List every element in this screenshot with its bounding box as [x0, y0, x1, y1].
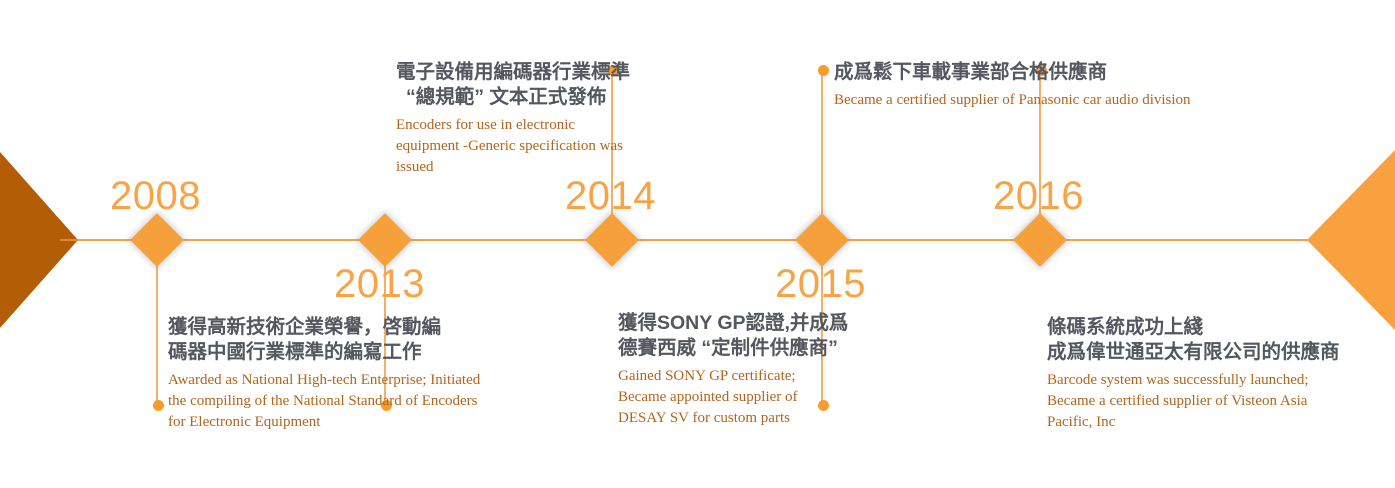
milestone-2008-connector-line	[156, 258, 158, 406]
panasonic-block-connector-line	[821, 70, 823, 222]
milestone-2016-en-line: Became a certified supplier of Visteon A…	[1047, 391, 1340, 412]
milestone-2016-cn-line: 成爲偉世通亞太有限公司的供應商	[1047, 340, 1340, 365]
milestone-2016-cn-line: 條碼系統成功上綫	[1047, 315, 1340, 340]
milestone-2015-en-line: DESAY SV for custom parts	[618, 408, 848, 429]
milestone-2014-en-line: issued	[396, 157, 630, 178]
milestone-2008-connector-dot-icon	[153, 400, 164, 411]
milestone-2015-en-description: Gained SONY GP certificate;Became appoin…	[618, 361, 848, 429]
milestone-2015-en-line: Gained SONY GP certificate;	[618, 366, 848, 387]
diamond-marker-icon	[1013, 213, 1067, 267]
timeline-axis	[60, 239, 1340, 241]
milestone-2014-en-description: Encoders for use in electronicequipment …	[396, 110, 630, 178]
timeline-infographic: 20082013獲得高新技術企業榮譽，啓動編碼器中國行業標準的編寫工作Award…	[0, 0, 1395, 488]
milestone-2013-en-line: for Electronic Equipment	[168, 412, 480, 433]
year-label-2015: 2015	[775, 264, 866, 304]
milestone-2015-text-block: 獲得SONY GP認證,并成爲德賽西威 “定制件供應商”Gained SONY …	[618, 311, 848, 429]
panasonic-block-en-description: Became a certified supplier of Panasonic…	[834, 85, 1191, 111]
milestone-2015-cn-line: 獲得SONY GP認證,并成爲	[618, 311, 848, 336]
year-label-2016: 2016	[993, 176, 1084, 216]
milestone-2013-cn-line: 碼器中國行業標準的編寫工作	[168, 340, 480, 365]
diamond-marker-icon	[585, 213, 639, 267]
panasonic-block-connector-dot-icon	[818, 65, 829, 76]
milestone-2014-cn-line: 電子設備用編碼器行業標準	[396, 60, 630, 85]
milestone-2016-en-line: Pacific, Inc	[1047, 412, 1340, 433]
milestone-2013-text-block: 獲得高新技術企業榮譽，啓動編碼器中國行業標準的編寫工作Awarded as Na…	[168, 315, 480, 433]
milestone-2015-en-line: Became appointed supplier of	[618, 387, 848, 408]
milestone-2014-en-line: Encoders for use in electronic	[396, 115, 630, 136]
timeline-end-arrow-icon	[1307, 150, 1395, 330]
milestone-2015-cn-line: 德賽西威 “定制件供應商”	[618, 336, 848, 361]
milestone-2014-text-block: 電子設備用編碼器行業標準“總規範” 文本正式發佈Encoders for use…	[396, 60, 630, 178]
milestone-2016-text-block: 條碼系統成功上綫成爲偉世通亞太有限公司的供應商Barcode system wa…	[1047, 315, 1340, 433]
milestone-2013-cn-line: 獲得高新技術企業榮譽，啓動編	[168, 315, 480, 340]
diamond-marker-icon	[130, 213, 184, 267]
diamond-marker-icon	[358, 213, 412, 267]
milestone-2013-en-line: the compiling of the National Standard o…	[168, 391, 480, 412]
milestone-2013-en-line: Awarded as National High-tech Enterprise…	[168, 370, 480, 391]
year-label-2008: 2008	[110, 176, 201, 216]
milestone-2016-en-description: Barcode system was successfully launched…	[1047, 365, 1340, 433]
milestone-2016-en-line: Barcode system was successfully launched…	[1047, 370, 1340, 391]
year-label-2014: 2014	[565, 176, 656, 216]
year-label-2013: 2013	[334, 264, 425, 304]
panasonic-block-text-block: 成爲鬆下車載事業部合格供應商Became a certified supplie…	[834, 60, 1191, 111]
panasonic-block-en-line: Became a certified supplier of Panasonic…	[834, 90, 1191, 111]
milestone-2013-en-description: Awarded as National High-tech Enterprise…	[168, 365, 480, 433]
milestone-2014-en-line: equipment -Generic specification was	[396, 136, 630, 157]
milestone-2014-cn-line: “總規範” 文本正式發佈	[396, 85, 630, 110]
panasonic-block-cn-line: 成爲鬆下車載事業部合格供應商	[834, 60, 1191, 85]
